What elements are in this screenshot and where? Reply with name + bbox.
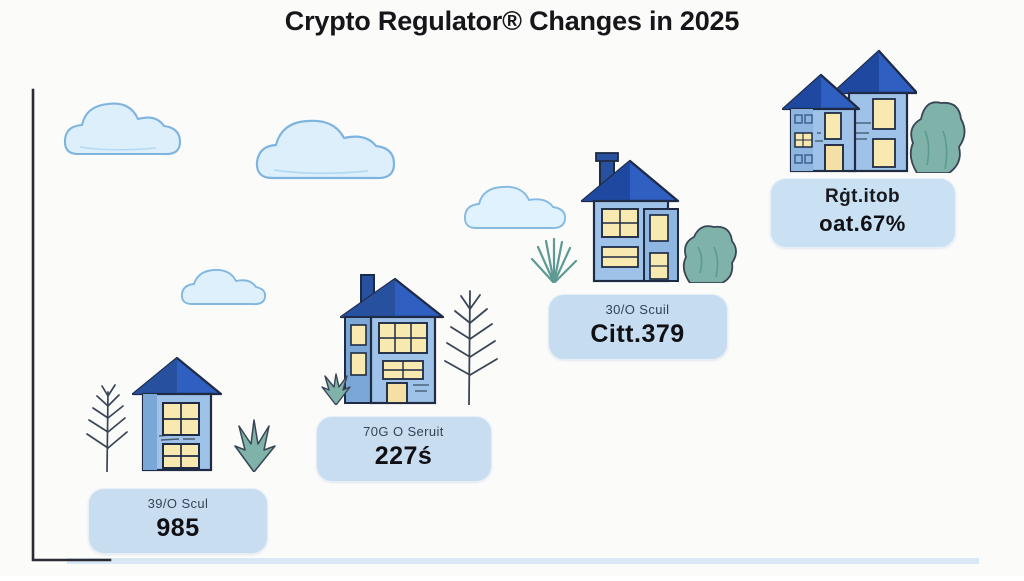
bar-3-category-label: 30/O Scuil (567, 302, 709, 317)
small-bush-left-icon (317, 373, 355, 405)
cloud-2-icon (252, 108, 402, 195)
tall-bush-right-icon (903, 93, 969, 173)
succulent-bush-right-icon (225, 416, 283, 472)
cloud-4-icon (460, 178, 570, 243)
bar-group-3[interactable]: 30/O Scuil Citt.379 (522, 283, 753, 560)
bar-1-category-label: 39/O Scul (107, 496, 249, 511)
bar-4-value-label: oat.67% (789, 211, 937, 237)
cloud-1-icon (60, 92, 190, 169)
bar-3-label-card: 30/O Scuil Citt.379 (548, 294, 728, 360)
bar-group-2[interactable]: 70G O Seruit 227ś (289, 405, 518, 560)
illustration-scene: 39/O Scul 985 (0, 0, 1024, 576)
bar-2-category-label: 70G O Seruit (335, 424, 473, 439)
bar-2-value-label: 227ś (335, 442, 473, 471)
cloud-3-icon (178, 262, 268, 317)
bare-tree-right-icon (437, 279, 503, 405)
house-1-illustration (125, 354, 229, 472)
ground-baseline (67, 558, 979, 564)
chart-canvas: Crypto Regulator® Changes in 2025 (0, 0, 1024, 576)
bar-group-1[interactable]: 39/O Scul 985 (67, 472, 289, 560)
bare-shrub-left-icon (75, 376, 129, 472)
round-bush-right-icon (678, 221, 740, 283)
bar-4-label-card: Rġt.itob oat.67% (770, 178, 956, 248)
bar-3-value-label: Citt.379 (567, 320, 709, 349)
bar-4-category-label: Rġt.itob (789, 186, 937, 208)
bar-2-label-card: 70G O Seruit 227ś (316, 416, 492, 482)
bar-1-value-label: 985 (107, 514, 249, 543)
house-4-illustration (777, 41, 917, 173)
grass-tuft-left-icon (528, 237, 580, 283)
bar-1-label-card: 39/O Scul 985 (88, 488, 268, 554)
house-3-illustration (568, 143, 694, 283)
bar-group-4[interactable]: Rġt.itob oat.67% (747, 173, 978, 560)
